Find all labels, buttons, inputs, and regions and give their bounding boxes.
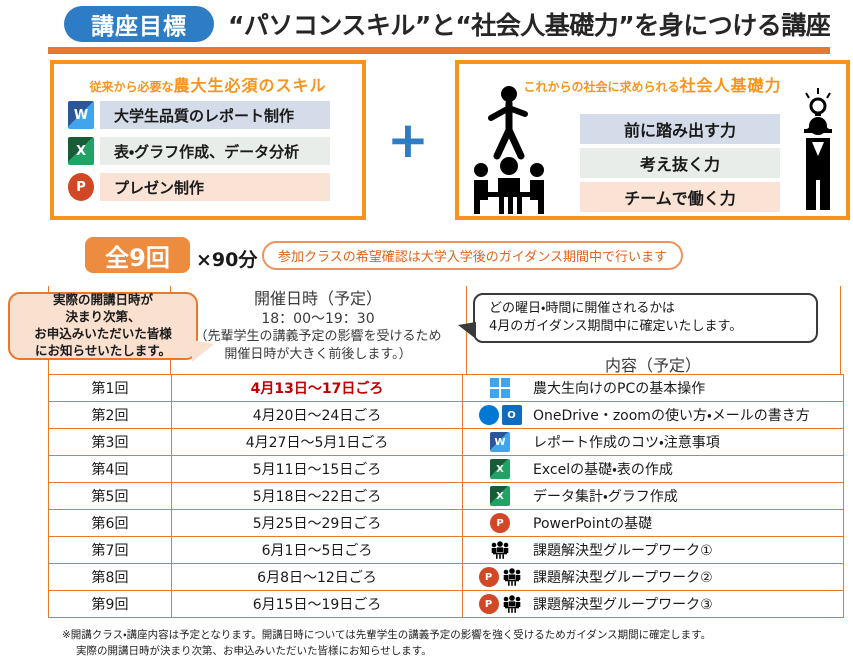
session-date-cell: 5月25日〜29日ごろ <box>172 510 463 537</box>
session-duration-label: ×90分 <box>196 245 257 272</box>
session-content-icons: O <box>467 405 533 425</box>
powerpoint-icon: P <box>479 594 499 614</box>
onedrive-icon <box>479 405 499 425</box>
session-number-cell: 第8回 <box>49 564 172 591</box>
session-content-label: OneDrive・zoomの使い方・メールの書き方 <box>533 405 810 425</box>
skill-item-powerpoint-label: プレゼン制作 <box>100 173 330 201</box>
session-date-text: 5月25日〜29日ごろ <box>253 516 382 532</box>
session-content-wrapper: 農大生向けのPCの基本操作 <box>463 375 843 401</box>
footnote-line1: ※開講クラス・講座内容は予定となります。開講日時については先輩学生の講義予定の影… <box>62 628 822 644</box>
session-content-wrapper: Xデータ集計・グラフ作成 <box>463 483 843 509</box>
powerpoint-icon: P <box>479 567 499 587</box>
skill-item-excel-label: 表・グラフ作成、データ分析 <box>100 137 330 165</box>
session-content-wrapper: OOneDrive・zoomの使い方・メールの書き方 <box>463 402 843 428</box>
session-date-cell: 5月11日〜15日ごろ <box>172 456 463 483</box>
table-row: 第4回5月11日〜15日ごろXExcelの基礎・表の作成 <box>49 456 844 483</box>
right-callout-tail <box>458 322 476 339</box>
session-date-cell: 4月20日〜24日ごろ <box>172 402 463 429</box>
header-badge: 講座目標 <box>64 6 214 42</box>
session-content-wrapper: XExcelの基礎・表の作成 <box>463 456 843 482</box>
table-header-right-border <box>840 286 841 374</box>
session-content-label: 課題解決型グループワーク② <box>533 567 713 587</box>
session-date-cell: 6月8日〜12日ごろ <box>172 564 463 591</box>
excel-icon: X <box>490 486 510 506</box>
session-number-cell: 第2回 <box>49 402 172 429</box>
session-content-icons: X <box>467 459 533 479</box>
table-row: 第3回4月27日〜5月1日ごろWレポート作成のコツ・注意事項 <box>49 429 844 456</box>
skill-item-word-label: 大学生品質のレポート制作 <box>100 101 330 129</box>
session-count-badge: 全9回 <box>85 237 190 273</box>
session-number-cell: 第7回 <box>49 537 172 564</box>
group-work-icon <box>502 567 522 587</box>
header-divider <box>48 47 830 54</box>
people-pictogram-icon <box>467 84 553 214</box>
table-row: 第5回5月18日〜22日ごろXデータ集計・グラフ作成 <box>49 483 844 510</box>
skill-item-powerpoint: P プレゼン制作 <box>68 172 330 202</box>
social-skill-2: 考え抜く力 <box>580 148 780 178</box>
idea-person-icon <box>794 86 842 211</box>
windows-icon <box>490 378 510 398</box>
session-content-icons: P <box>467 513 533 533</box>
session-content-icons <box>467 378 533 398</box>
session-date-cell: 6月15日〜19日ごろ <box>172 591 463 618</box>
left-callout-line4: にお知らせいたします。 <box>34 343 172 360</box>
session-number-cell: 第3回 <box>49 429 172 456</box>
group-work-icon <box>490 540 510 560</box>
session-date-text: 5月18日〜22日ごろ <box>253 489 382 505</box>
session-content-icons: P <box>467 567 533 587</box>
session-number-cell: 第5回 <box>49 483 172 510</box>
session-content-cell: PPowerPointの基礎 <box>463 510 844 537</box>
panel-pc-skills-heading-big: 農大生必須のスキル <box>174 76 327 95</box>
table-row: 第2回4月20日〜24日ごろOOneDrive・zoomの使い方・メールの書き方 <box>49 402 844 429</box>
session-date-cell: 5月18日〜22日ごろ <box>172 483 463 510</box>
table-row: 第9回6月15日〜19日ごろP課題解決型グループワーク③ <box>49 591 844 618</box>
left-callout-line3: お申込みいただいた皆様 <box>34 326 172 343</box>
session-content-wrapper: PPowerPointの基礎 <box>463 510 843 536</box>
session-date-text: 4月20日〜24日ごろ <box>253 408 382 424</box>
session-content-icons <box>467 540 533 560</box>
footnote: ※開講クラス・講座内容は予定となります。開講日時については先輩学生の講義予定の影… <box>62 628 822 660</box>
session-date-highlight: 4月13日〜17日ごろ <box>251 381 384 397</box>
session-date-cell: 4月27日〜5月1日ごろ <box>172 429 463 456</box>
session-content-label: Excelの基礎・表の作成 <box>533 459 673 479</box>
session-date-cell: 4月13日〜17日ごろ <box>172 375 463 402</box>
table-header-date-line2: 18：00〜19：30 <box>170 310 466 329</box>
social-skill-3-label: チームで働く力 <box>580 182 780 212</box>
session-content-cell: Wレポート作成のコツ・注意事項 <box>463 429 844 456</box>
skill-item-word: W 大学生品質のレポート制作 <box>68 100 330 130</box>
social-skill-2-label: 考え抜く力 <box>580 148 780 178</box>
session-content-icons: X <box>467 486 533 506</box>
panel-pc-skills-heading-small: 従来から必要な <box>89 80 173 94</box>
table-row: 第8回6月8日〜12日ごろP課題解決型グループワーク② <box>49 564 844 591</box>
session-content-cell: OOneDrive・zoomの使い方・メールの書き方 <box>463 402 844 429</box>
powerpoint-icon: P <box>68 173 94 201</box>
session-date-text: 4月27日〜5月1日ごろ <box>246 435 389 451</box>
right-callout-line2: 4月のガイダンス期間中に確定いたします。 <box>489 318 742 336</box>
powerpoint-icon: P <box>490 513 510 533</box>
session-content-icons: P <box>467 594 533 614</box>
panel-pc-skills-heading: 従来から必要な農大生必須のスキル <box>54 72 362 96</box>
session-date-text: 5月11日〜15日ごろ <box>253 462 382 478</box>
skill-item-excel: X 表・グラフ作成、データ分析 <box>68 136 330 166</box>
word-icon: W <box>490 432 510 452</box>
right-callout-bubble: どの曜日・時間に開催されるかは 4月のガイダンス期間中に確定いたします。 <box>473 293 818 343</box>
session-content-label: データ集計・グラフ作成 <box>533 486 678 506</box>
session-content-icons: W <box>467 432 533 452</box>
course-overview-poster: 講座目標 “パソコンスキル”と“社会人基礎力”を身につける講座 従来から必要な農… <box>0 0 853 654</box>
group-work-icon <box>502 594 522 614</box>
session-content-cell: 課題解決型グループワーク① <box>463 537 844 564</box>
header: 講座目標 “パソコンスキル”と“社会人基礎力”を身につける講座 <box>0 0 853 48</box>
left-callout-line1: 実際の開講日時が <box>34 292 172 309</box>
word-icon: W <box>68 101 94 129</box>
social-skill-3: チームで働く力 <box>580 182 780 212</box>
session-date-cell: 6月1日〜5日ごろ <box>172 537 463 564</box>
plus-icon: + <box>386 120 430 164</box>
left-callout-line2: 決まり次第、 <box>34 309 172 326</box>
schedule-table: 第1回4月13日〜17日ごろ農大生向けのPCの基本操作第2回4月20日〜24日ご… <box>48 374 844 618</box>
session-content-cell: P課題解決型グループワーク③ <box>463 591 844 618</box>
guidance-note-pill: 参加クラスの希望確認は大学入学後のガイダンス期間中で行います <box>262 241 683 270</box>
panel-social-skills: これからの社会に求められる社会人基礎力 <box>455 60 850 220</box>
footnote-line2: 実際の開講日時が決まり次第、お申込みいただいた皆様にお知らせします。 <box>62 644 822 660</box>
panel-social-skills-heading-big: 社会人基礎力 <box>680 76 782 95</box>
session-date-text: 6月1日〜5日ごろ <box>262 543 373 559</box>
social-skill-1: 前に踏み出す力 <box>580 114 780 144</box>
right-callout-line1: どの曜日・時間に開催されるかは <box>489 300 742 318</box>
session-content-label: レポート作成のコツ・注意事項 <box>533 432 720 452</box>
session-number-cell: 第6回 <box>49 510 172 537</box>
table-row: 第7回6月1日〜5日ごろ課題解決型グループワーク① <box>49 537 844 564</box>
panel-pc-skills: 従来から必要な農大生必須のスキル W 大学生品質のレポート制作 X 表・グラフ作… <box>50 60 366 220</box>
table-header-date-line1: 開催日時（予定） <box>170 288 466 310</box>
outlook-icon: O <box>502 405 522 425</box>
session-date-text: 6月15日〜19日ごろ <box>253 597 382 613</box>
session-date-text: 6月8日〜12日ごろ <box>257 570 377 586</box>
excel-icon: X <box>68 137 94 165</box>
session-content-label: 課題解決型グループワーク① <box>533 540 713 560</box>
session-content-cell: P課題解決型グループワーク② <box>463 564 844 591</box>
table-header-date: 開催日時（予定） 18：00〜19：30 （先輩学生の講義予定の影響を受けるため… <box>170 288 466 364</box>
session-content-wrapper: P課題解決型グループワーク③ <box>463 591 843 617</box>
table-header-date-line4: 開催日時が大きく前後します。） <box>170 346 466 364</box>
session-content-cell: Xデータ集計・グラフ作成 <box>463 483 844 510</box>
table-row: 第1回4月13日〜17日ごろ農大生向けのPCの基本操作 <box>49 375 844 402</box>
session-content-label: PowerPointの基礎 <box>533 513 652 533</box>
session-content-cell: XExcelの基礎・表の作成 <box>463 456 844 483</box>
social-skill-1-label: 前に踏み出す力 <box>580 114 780 144</box>
session-number-cell: 第9回 <box>49 591 172 618</box>
session-content-wrapper: 課題解決型グループワーク① <box>463 537 843 563</box>
session-content-label: 農大生向けのPCの基本操作 <box>533 378 705 398</box>
left-callout-bubble: 実際の開講日時が 決まり次第、 お申込みいただいた皆様 にお知らせいたします。 <box>8 292 198 360</box>
page-title: “パソコンスキル”と“社会人基礎力”を身につける講座 <box>228 6 830 42</box>
session-content-wrapper: P課題解決型グループワーク② <box>463 564 843 590</box>
session-content-label: 課題解決型グループワーク③ <box>533 594 713 614</box>
table-row: 第6回5月25日〜29日ごろPPowerPointの基礎 <box>49 510 844 537</box>
table-header-date-line3: （先輩学生の講義予定の影響を受けるため <box>170 328 466 346</box>
session-content-cell: 農大生向けのPCの基本操作 <box>463 375 844 402</box>
session-content-wrapper: Wレポート作成のコツ・注意事項 <box>463 429 843 455</box>
table-header-content: 内容（予定） <box>466 352 840 376</box>
session-number-cell: 第1回 <box>49 375 172 402</box>
session-number-cell: 第4回 <box>49 456 172 483</box>
excel-icon: X <box>490 459 510 479</box>
left-callout-tail <box>192 340 214 362</box>
